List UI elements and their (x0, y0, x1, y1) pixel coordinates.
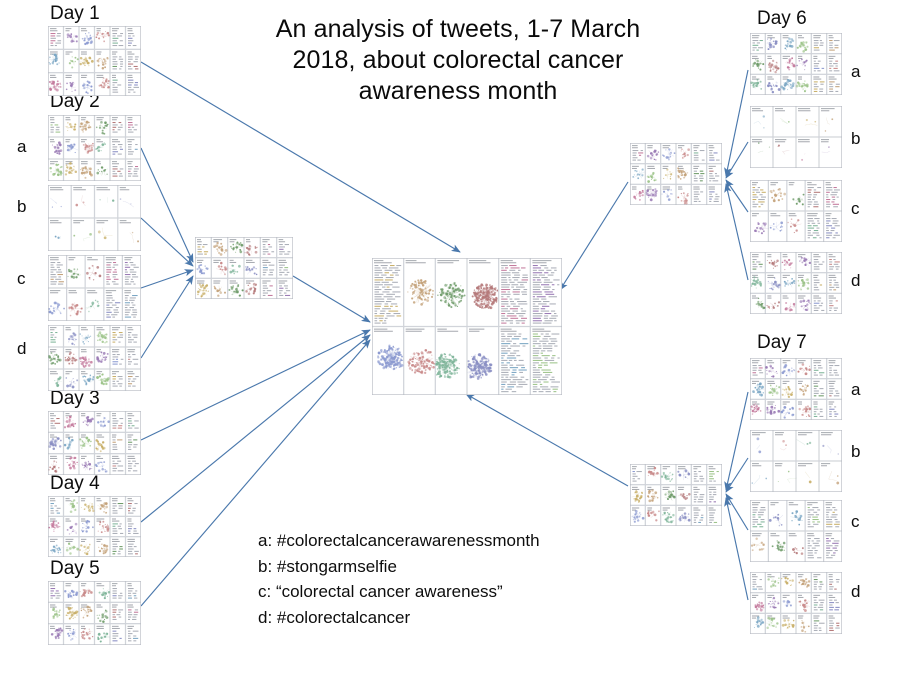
network-graph-image-day3 (48, 411, 141, 475)
slide-canvas: An analysis of tweets, 1-7 March 2018, a… (0, 0, 900, 675)
network-graph-image-day5 (48, 581, 141, 645)
thumbnail-lefthub[interactable] (195, 237, 293, 299)
thumbnail-day5[interactable] (48, 581, 141, 645)
arrow-from-day7d (726, 498, 748, 600)
thumbnail-day7c[interactable] (750, 500, 842, 562)
network-graph-image-lefthub (195, 237, 293, 299)
arrow-from-day2c (141, 270, 193, 288)
thumbnail-centerhub[interactable] (372, 258, 562, 395)
network-graph-image-day6c (750, 180, 842, 242)
thumbnail-day7b[interactable] (750, 430, 842, 492)
day-label-day6: Day 6 (757, 9, 807, 29)
day-label-day1: Day 1 (50, 4, 100, 24)
network-graph-image-day6hub (630, 143, 722, 205)
legend-item-a: a: #colorectalcancerawarenessmonth (258, 528, 540, 554)
sublabel-day2-b: b (17, 198, 26, 216)
network-graph-image-day6a (750, 33, 842, 95)
network-graph-image-day1 (48, 26, 141, 96)
day-label-day5: Day 5 (50, 559, 100, 579)
thumbnail-day6d[interactable] (750, 252, 842, 314)
day-label-day3: Day 3 (50, 389, 100, 409)
thumbnail-day7hub[interactable] (630, 464, 722, 526)
thumbnail-day2d[interactable] (48, 325, 141, 391)
legend: a: #colorectalcancerawarenessmonth b: #s… (258, 528, 540, 630)
sublabel-day7-d: d (851, 583, 860, 601)
thumbnail-day3[interactable] (48, 411, 141, 475)
thumbnail-day6a[interactable] (750, 33, 842, 95)
sublabel-day7-b: b (851, 443, 860, 461)
arrow-from-day7hub (466, 394, 628, 486)
legend-item-d: d: #colorectalcancer (258, 605, 540, 631)
arrow-from-day2a (141, 148, 193, 262)
thumbnail-day2a[interactable] (48, 115, 141, 181)
thumbnail-day6hub[interactable] (630, 143, 722, 205)
arrow-from-day6d (726, 184, 748, 280)
arrow-from-lefthub (293, 276, 370, 322)
day-label-day7: Day 7 (757, 333, 807, 353)
sublabel-day6-d: d (851, 272, 860, 290)
sublabel-day6-c: c (851, 200, 860, 218)
network-graph-image-day2d (48, 325, 141, 391)
network-graph-image-day2c (48, 255, 141, 321)
arrow-from-day4 (141, 335, 370, 522)
network-graph-image-day2a (48, 115, 141, 181)
network-graph-image-day7hub (630, 464, 722, 526)
thumbnail-day4[interactable] (48, 496, 141, 557)
thumbnail-day7a[interactable] (750, 358, 842, 420)
day-label-day4: Day 4 (50, 474, 100, 494)
network-graph-image-day7d (750, 572, 842, 634)
thumbnail-day2c[interactable] (48, 255, 141, 321)
arrow-from-day2d (141, 276, 193, 358)
sublabel-day6-b: b (851, 130, 860, 148)
thumbnail-day1[interactable] (48, 26, 141, 96)
network-graph-image-day7c (750, 500, 842, 562)
network-graph-image-day6b (750, 106, 842, 168)
sublabel-day7-c: c (851, 513, 860, 531)
thumbnail-day2b[interactable] (48, 185, 141, 251)
sublabel-day2-d: d (17, 340, 26, 358)
legend-item-b: b: #stongarmselfie (258, 554, 540, 580)
sublabel-day6-a: a (851, 63, 860, 81)
network-graph-image-day6d (750, 252, 842, 314)
arrow-from-day1 (141, 62, 460, 252)
network-graph-image-day7a (750, 358, 842, 420)
sublabel-day7-a: a (851, 381, 860, 399)
thumbnail-day7d[interactable] (750, 572, 842, 634)
sublabel-day2-a: a (17, 138, 26, 156)
legend-item-c: c: “colorectal cancer awareness” (258, 579, 540, 605)
network-graph-image-centerhub (372, 258, 562, 395)
arrow-from-day2b (141, 218, 193, 266)
sublabel-day2-c: c (17, 270, 26, 288)
thumbnail-day6b[interactable] (750, 106, 842, 168)
arrow-from-day3 (141, 330, 370, 440)
thumbnail-day6c[interactable] (750, 180, 842, 242)
network-graph-image-day2b (48, 185, 141, 251)
network-graph-image-day4 (48, 496, 141, 557)
arrow-from-day6hub (560, 182, 628, 290)
network-graph-image-day7b (750, 430, 842, 492)
